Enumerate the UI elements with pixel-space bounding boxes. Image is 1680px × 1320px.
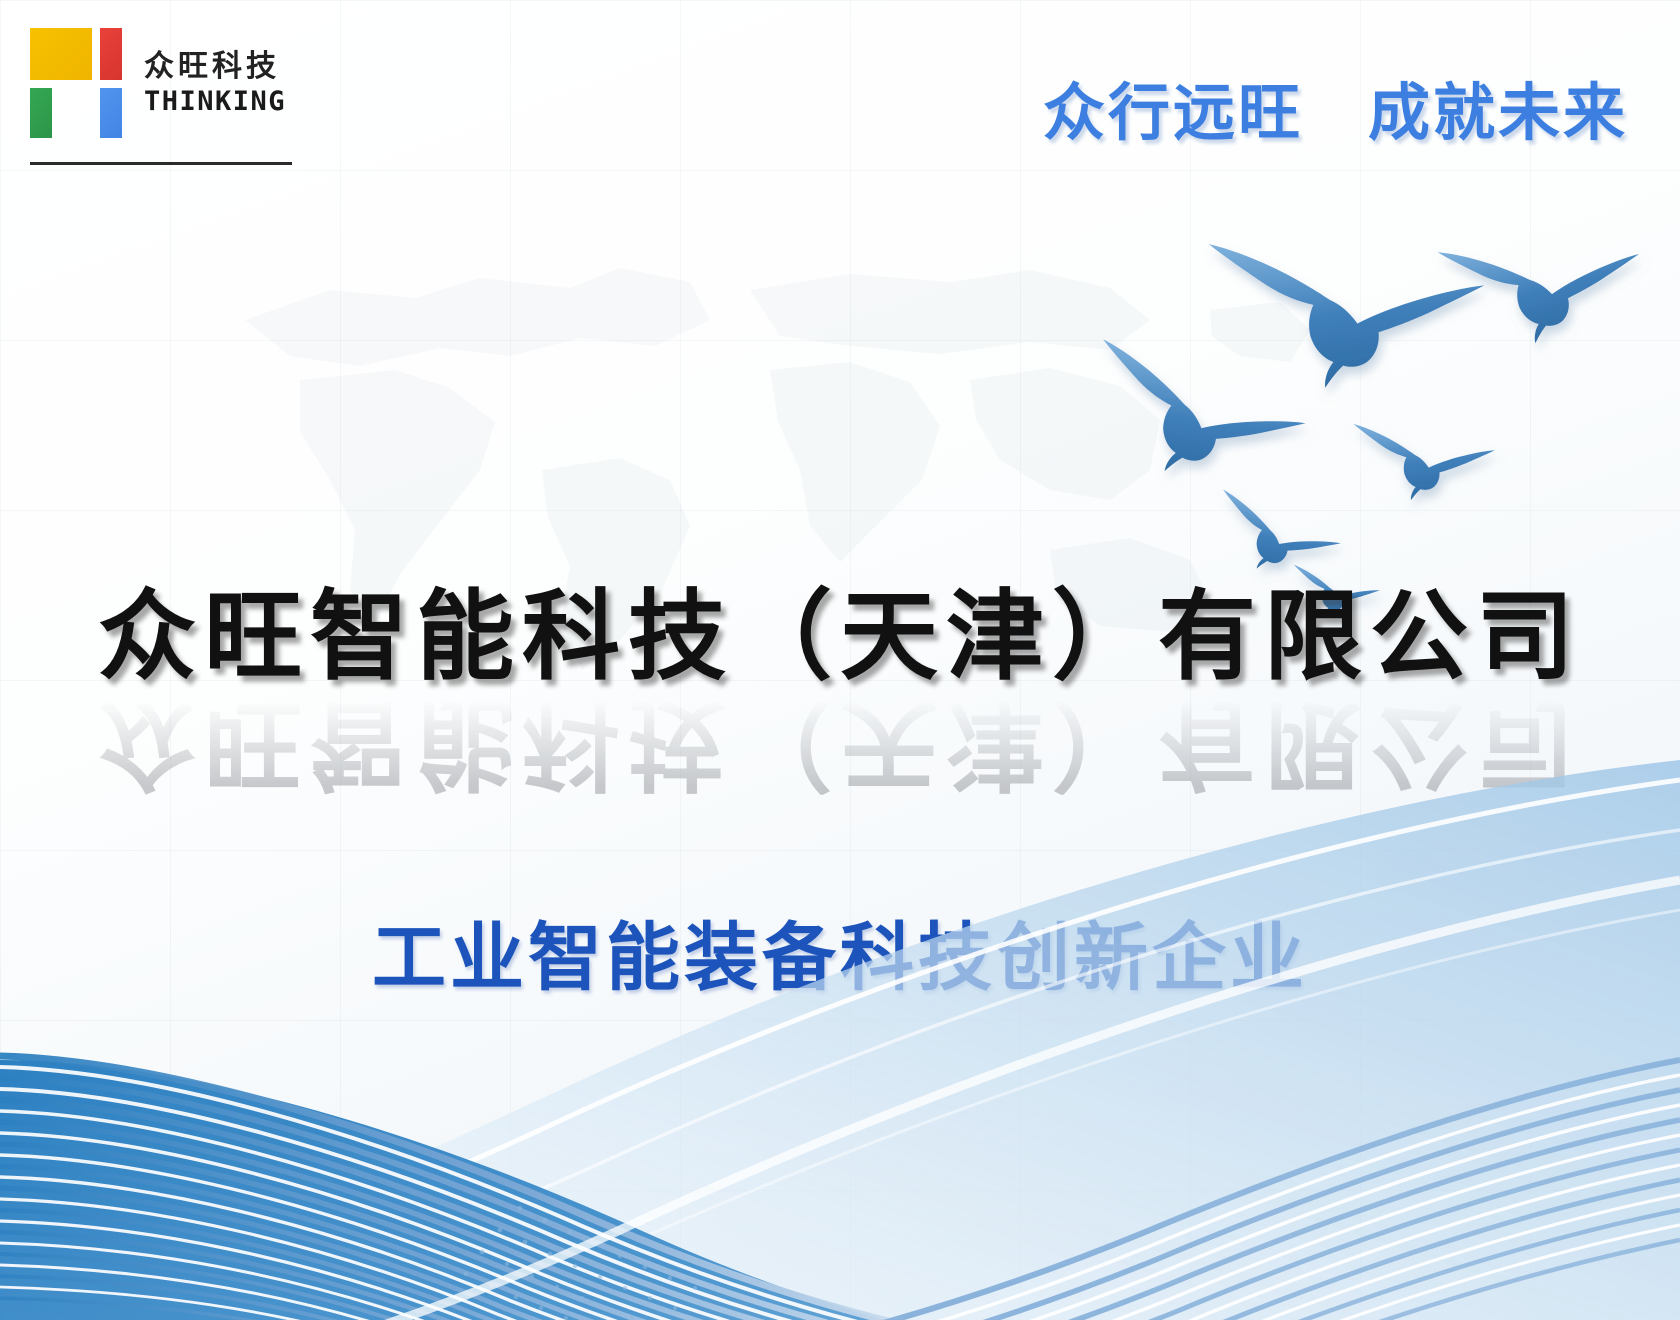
logo-underline-rule [30, 162, 292, 165]
page-subtitle: 工业智能装备科技创新企业 [0, 898, 1680, 1005]
logo-tile-blue [100, 88, 122, 138]
bottom-wave-decoration [0, 760, 1680, 1320]
logo-tile-yellow [30, 28, 92, 80]
logo-mark-icon [30, 28, 122, 138]
title-group: 众旺智能科技（天津）有限公司 众旺智能科技（天津）有限公司 [0, 585, 1680, 795]
page-title-reflection: 众旺智能科技（天津）有限公司 [0, 692, 1680, 795]
logo-chinese-name: 众旺科技 [144, 52, 286, 82]
company-slogan: 众行远旺 成就未来 [1043, 62, 1628, 152]
page-title: 众旺智能科技（天津）有限公司 [0, 585, 1680, 688]
presentation-slide: 众旺科技 THINKING 众行远旺 成就未来 [0, 0, 1680, 1320]
logo-english-name: THINKING [144, 88, 286, 115]
logo-tile-green [30, 88, 52, 138]
company-logo: 众旺科技 THINKING [30, 28, 286, 138]
logo-tile-red [100, 28, 122, 80]
